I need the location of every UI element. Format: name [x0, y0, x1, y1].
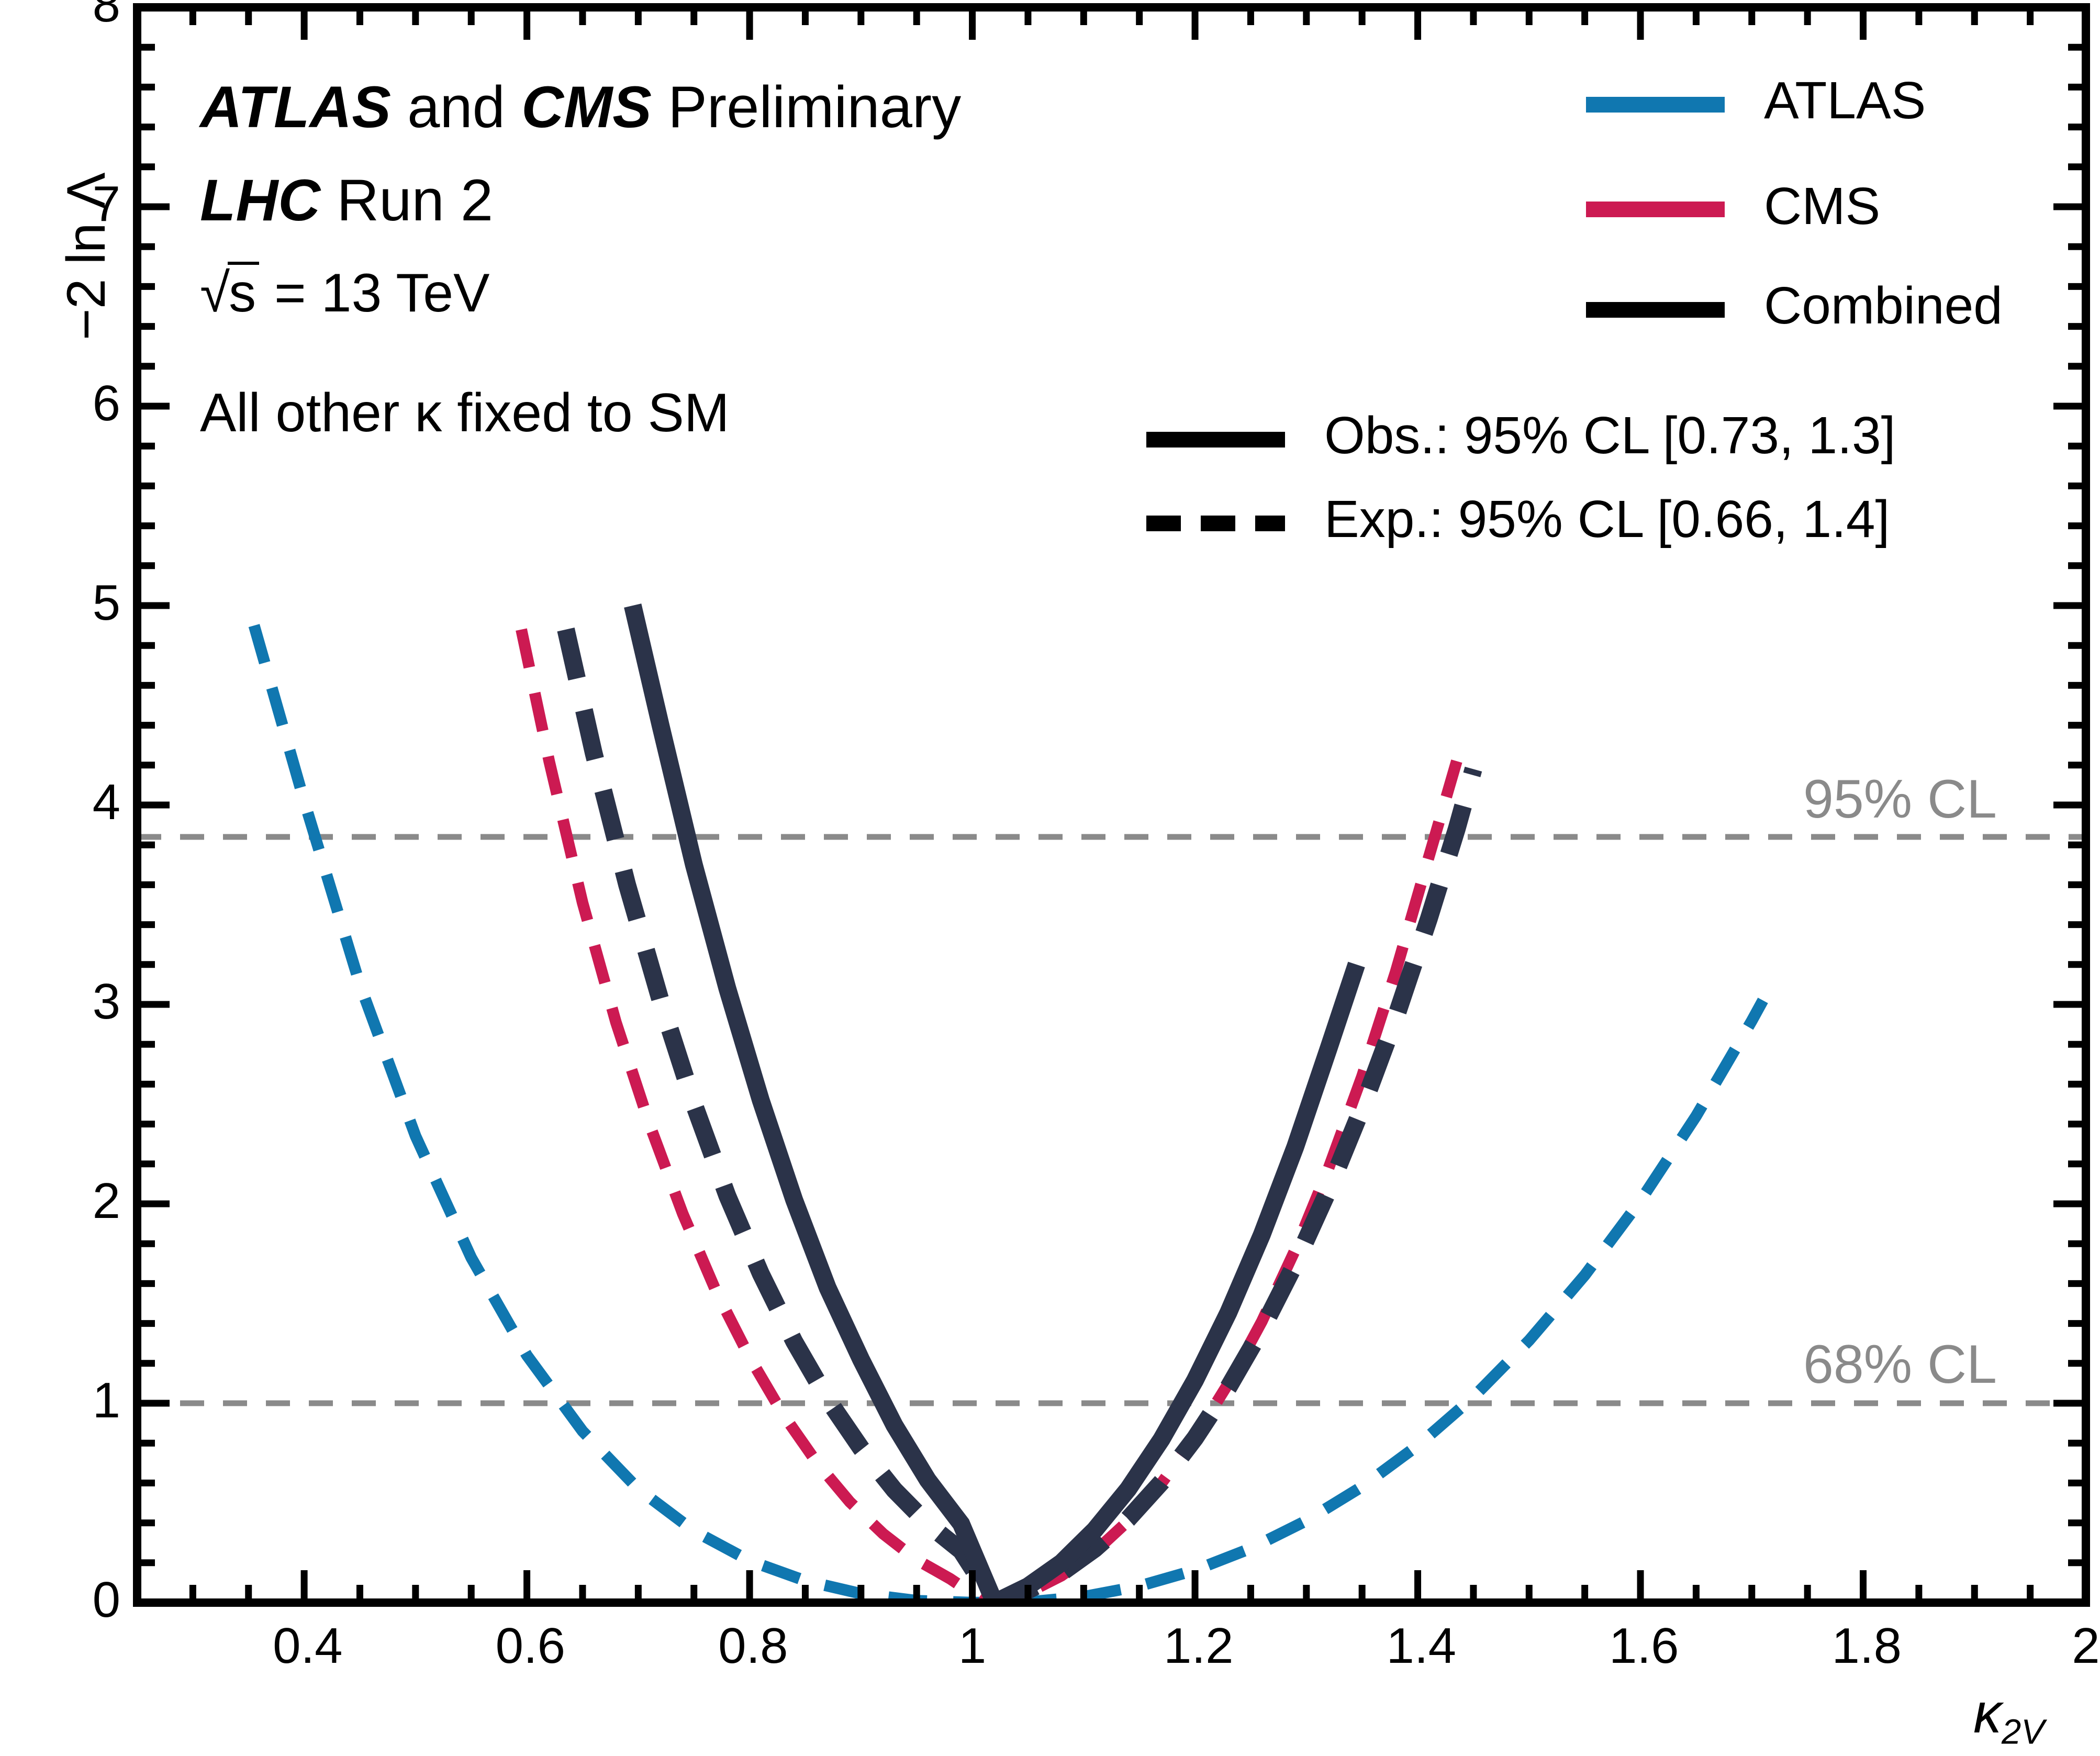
sqrt-icon: √	[200, 262, 230, 325]
y-tick-label-8: 8	[63, 0, 120, 33]
x-tick-label-0.6: 0.6	[496, 1617, 558, 1675]
annotation-energy-value: = 13 TeV	[259, 263, 489, 323]
x-axis-title-subscript: 2V	[2002, 1712, 2045, 1751]
annotation-kappa-fixed: All other κ fixed to SM	[200, 382, 730, 444]
x-tick-label-0.8: 0.8	[718, 1617, 781, 1675]
figure-root: −2 ln Λ	[0, 0, 2100, 1756]
y-tick-label-6: 6	[63, 375, 120, 432]
annotation-preliminary: Preliminary	[652, 74, 961, 140]
annotation-and: and	[391, 74, 521, 140]
annotation-atlas: ATLAS	[200, 74, 391, 140]
x-tick-label-1.8: 1.8	[1832, 1617, 1895, 1675]
annotation-radicand: s	[228, 262, 259, 321]
y-tick-label-4: 4	[63, 774, 120, 831]
x-tick-label-1.6: 1.6	[1609, 1617, 1672, 1675]
x-axis-title-base: κ	[1973, 1681, 2002, 1744]
x-tick-label-2: 2	[2054, 1617, 2100, 1675]
legend-label-observed[interactable]: Obs.: 95% CL [0.73, 1.3]	[1324, 406, 1895, 466]
y-tick-label-1: 1	[63, 1372, 120, 1429]
annotation-experiment-line: ATLAS and CMS Preliminary	[200, 73, 961, 141]
x-tick-label-0.4: 0.4	[273, 1617, 336, 1675]
legend-label-cms[interactable]: CMS	[1764, 176, 1880, 237]
cl95-annotation: 95% CL	[1803, 768, 1997, 831]
y-tick-label-5: 5	[63, 574, 120, 632]
plot-area-background	[137, 7, 2086, 1603]
x-tick-label-1.2: 1.2	[1164, 1617, 1226, 1675]
x-tick-label-1.4: 1.4	[1387, 1617, 1449, 1675]
legend-label-atlas[interactable]: ATLAS	[1764, 71, 1926, 131]
annotation-cms: CMS	[521, 74, 652, 140]
cl68-annotation: 68% CL	[1803, 1334, 1997, 1396]
x-axis-title: κ2V	[1973, 1680, 2045, 1752]
y-tick-label-7: 7	[63, 175, 120, 233]
legend-label-expected[interactable]: Exp.: 95% CL [0.66, 1.4]	[1324, 489, 1890, 550]
annotation-run2: Run 2	[320, 167, 493, 233]
x-tick-label-1: 1	[941, 1617, 1004, 1675]
annotation-run-line: LHC Run 2	[200, 166, 493, 234]
y-tick-label-3: 3	[63, 973, 120, 1031]
y-tick-label-0: 0	[63, 1571, 120, 1629]
legend-label-combined[interactable]: Combined	[1764, 276, 2003, 336]
annotation-energy-line: √s = 13 TeV	[200, 262, 490, 325]
annotation-lhc: LHC	[200, 167, 320, 233]
y-tick-label-2: 2	[63, 1172, 120, 1230]
